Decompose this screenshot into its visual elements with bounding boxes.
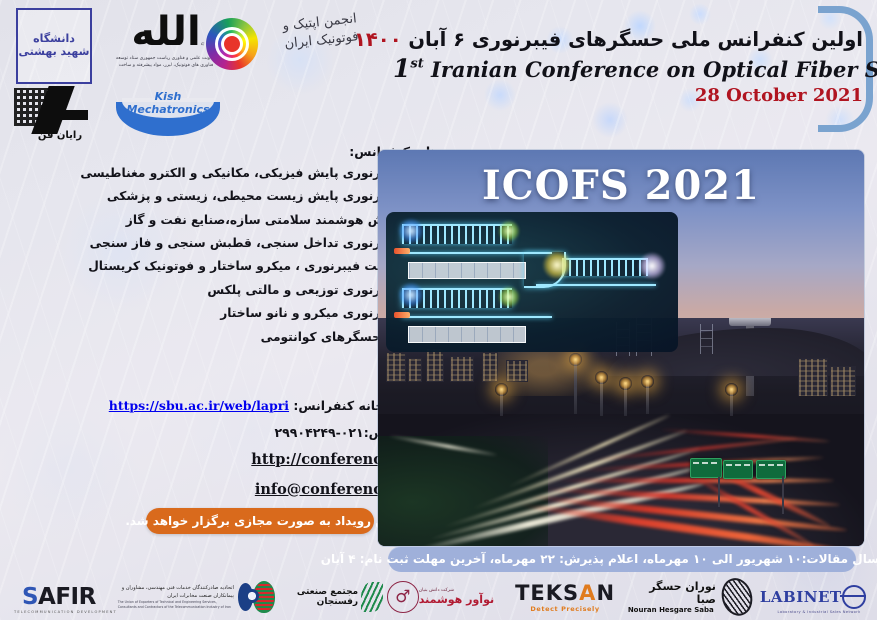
nouran-label-en: Nouran Hesgare Saba xyxy=(628,606,714,614)
chip-grating-block xyxy=(408,326,526,343)
teksan-label: TEKSAN xyxy=(515,581,615,605)
light-glow xyxy=(398,218,424,244)
etehadieh-label-wrap: اتحادیه صادرکنندگان خدمات فنی مهندسی، مش… xyxy=(118,585,234,609)
nouran-label-fa: نوران حسگر صبا xyxy=(628,580,716,606)
highway-sign-icon xyxy=(723,460,753,479)
title-fa-date: ۶ آبان xyxy=(408,28,465,51)
street-light-icon xyxy=(624,382,627,416)
conference-date-en: 28 October 2021 xyxy=(393,85,863,106)
fiber-connector-icon xyxy=(394,312,410,318)
conference-hero-image: ICOFS 2021 xyxy=(378,150,864,546)
hero-building xyxy=(798,358,828,398)
waveguide-comb-icon xyxy=(562,258,648,276)
etehadieh-label-en: The Union of Exporters of Technical and … xyxy=(118,600,234,609)
labinet-label: LABINET xyxy=(760,588,842,606)
sabz-wave-icon xyxy=(361,582,382,612)
sponsor-safir-logo: SAFIR TELECOMMUNICATION DEVELOPMENT xyxy=(0,576,118,618)
hero-building xyxy=(506,360,528,382)
chip-grating-block xyxy=(408,262,526,279)
hero-city-scene xyxy=(378,318,864,546)
hero-building xyxy=(482,352,498,382)
deadlines-bar: زمان ارسال مقالات:۱۰ شهریور الی ۱۰ مهرما… xyxy=(388,546,856,572)
sponsor-noavar-logo: شرکت دانش بنیان نوآور هوشمند ♂ xyxy=(383,576,503,618)
noavar-label-fa: نوآور هوشمند xyxy=(419,593,494,606)
light-glow xyxy=(498,286,520,308)
light-glow xyxy=(398,282,424,308)
light-glow xyxy=(542,250,572,280)
highway-sign-post xyxy=(718,477,720,507)
sponsor-labinet-logo: LABINET Laboratory & Industrial Sales Ne… xyxy=(751,576,877,618)
labinet-subtitle: Laboratory & Industrial Sales Network xyxy=(777,610,860,614)
sponsor-etehadieh-logo: اتحادیه صادرکنندگان خدمات فنی مهندسی، مش… xyxy=(118,576,253,618)
sponsor-nouran-logo: نوران حسگر صبا Nouran Hesgare Saba xyxy=(628,576,752,618)
hero-building xyxy=(830,366,856,398)
street-light-icon xyxy=(500,388,503,416)
sabz-label-wrap: مجتمع صنعتی رفسنجان xyxy=(277,587,358,607)
sabz-label-fa: مجتمع صنعتی رفسنجان xyxy=(277,587,358,607)
page-title-fa: اولین کنفرانس ملی حسگرهای فیبرنوری ۶ آبا… xyxy=(393,28,863,52)
sponsor-logo-strip-top: دانشگاه شهید بهشتی رایان فن الله معاونت … xyxy=(0,0,380,152)
street-light-icon xyxy=(646,380,649,414)
nouran-coil-icon xyxy=(717,575,756,620)
sponsor-teksan-logo: TEKSAN Detect Precisely xyxy=(502,576,628,618)
hero-title: ICOFS 2021 xyxy=(378,162,864,209)
noavar-badge-icon: ♂ xyxy=(387,581,419,613)
hero-building xyxy=(386,352,406,382)
light-glow xyxy=(498,220,520,242)
labinet-mark-icon xyxy=(842,585,866,609)
sbu-logo-label: دانشگاه شهید بهشتی xyxy=(18,33,90,58)
sponsor-logo-strip-bottom: LABINET Laboratory & Industrial Sales Ne… xyxy=(0,574,877,620)
nouran-label-wrap: نوران حسگر صبا Nouran Hesgare Saba xyxy=(628,580,716,614)
svg-text:Optics and Photonics Society o: Optics and Photonics Society of Iran xyxy=(198,6,206,46)
iran-emblem-glyph: الله xyxy=(131,12,200,52)
fiber-connector-icon xyxy=(394,248,410,254)
street-light-icon xyxy=(600,376,603,416)
contact-address-url[interactable]: https://sbu.ac.ir/web/lapri xyxy=(109,398,289,413)
contact-phone-value: ۰۲۱-۲۹۹۰۴۲۴۹ xyxy=(275,425,364,440)
kish-label: Kish Mechatronics xyxy=(112,90,224,116)
title-fa-year: ۱۴۰۰ xyxy=(354,28,402,51)
street-light-icon xyxy=(730,388,733,416)
rayan-fan-label: رایان فن xyxy=(12,130,108,141)
sbu-logo: دانشگاه شهید بهشتی xyxy=(16,8,92,84)
hero-building xyxy=(426,348,444,382)
hero-building xyxy=(450,356,474,382)
rayan-fan-logo: رایان فن xyxy=(10,86,110,144)
light-glow xyxy=(638,252,666,280)
power-pylon-icon xyxy=(700,324,713,354)
highway-sign-post xyxy=(782,476,784,514)
title-en-ordinal: 1st xyxy=(393,54,424,83)
street-light-icon xyxy=(574,358,577,414)
page-title-en: 1st Iranian Conference on Optical Fiber … xyxy=(393,54,863,83)
highway-sign-icon xyxy=(690,458,722,478)
opsi-logo: Optics and Photonics Society of Iran xyxy=(198,6,270,78)
rayan-fan-bar-mark xyxy=(62,110,88,120)
poster-header: اولین کنفرانس ملی حسگرهای فیبرنوری ۶ آبا… xyxy=(393,28,863,106)
opsi-arc-text: Optics and Photonics Society of Iran xyxy=(198,6,270,78)
virtual-event-text: این رویداد به صورت مجازی برگزار خواهد شد… xyxy=(125,514,394,528)
safir-subtitle: TELECOMMUNICATION DEVELOPMENT xyxy=(14,610,117,614)
conference-poster: دانشگاه شهید بهشتی رایان فن الله معاونت … xyxy=(0,0,877,620)
hero-building xyxy=(408,358,422,382)
etehadieh-label-fa: اتحادیه صادرکنندگان خدمات فنی مهندسی، مش… xyxy=(118,585,234,600)
teksan-subtitle: Detect Precisely xyxy=(530,605,599,613)
waveguide-line xyxy=(402,316,552,318)
virtual-event-banner: این رویداد به صورت مجازی برگزار خواهد شد… xyxy=(146,508,374,534)
safir-label: SAFIR xyxy=(22,584,96,610)
photonic-chip-illustration xyxy=(386,212,678,352)
kish-mechatronics-logo: Kish Mechatronics xyxy=(112,88,224,140)
title-fa-main: اولین کنفرانس ملی حسگرهای فیبرنوری xyxy=(472,28,863,51)
etehadieh-circle-icon xyxy=(238,583,253,611)
deadlines-text: زمان ارسال مقالات:۱۰ شهریور الی ۱۰ مهرما… xyxy=(321,552,877,566)
noavar-label-wrap: شرکت دانش بنیان نوآور هوشمند xyxy=(419,588,494,606)
sponsor-sabz-rafsanjan-logo: مجتمع صنعتی رفسنجان xyxy=(253,576,382,618)
title-en-text: Iranian Conference on Optical Fiber Sens… xyxy=(431,57,877,82)
